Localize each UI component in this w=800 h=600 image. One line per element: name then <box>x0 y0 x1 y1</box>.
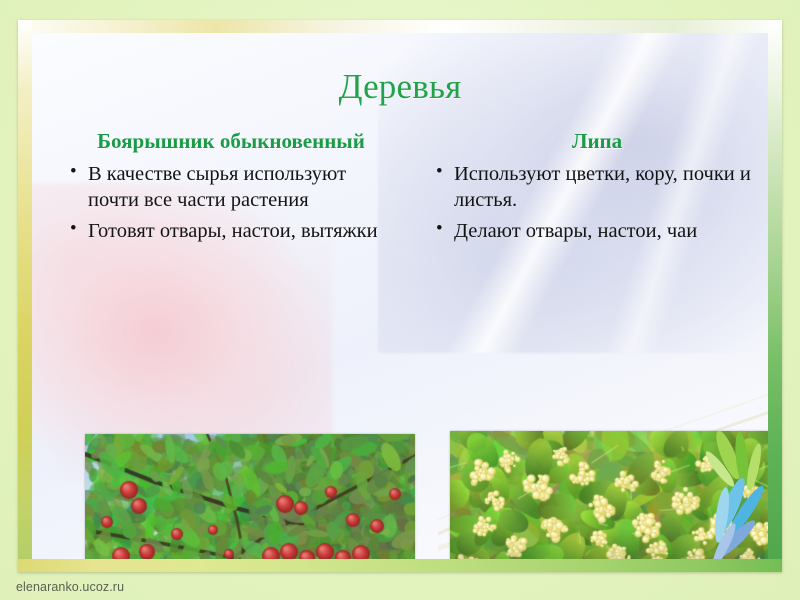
list-item: Готовят отвары, настои, вытяжки <box>66 218 396 245</box>
presentation-page: Деревья Боярышник обыкновенный В качеств… <box>0 0 800 600</box>
list-item: Делают отвары, настои, чаи <box>432 218 762 245</box>
heading-linden: Липа <box>432 129 762 155</box>
photo-linden-blossom: Priroda36.ru <box>450 431 768 559</box>
page-title: Деревья <box>32 67 768 107</box>
column-linden: Липа Используют цветки, кору, почки и ли… <box>432 129 762 249</box>
frame-band-top-icon <box>18 20 782 33</box>
list-item: Используют цветки, кору, почки и листья. <box>432 161 762 214</box>
photo-hawthorn-berries: Priroda36.ru <box>85 434 415 559</box>
column-hawthorn: Боярышник обыкновенный В качестве сырья … <box>66 129 396 249</box>
slide-decorative-frame: Деревья Боярышник обыкновенный В качеств… <box>18 20 782 572</box>
frame-band-left-icon <box>18 20 32 572</box>
list-item: В качестве сырья используют почти все ча… <box>66 161 396 214</box>
slide-canvas: Деревья Боярышник обыкновенный В качеств… <box>32 33 768 559</box>
bullet-list-linden: Используют цветки, кору, почки и листья.… <box>432 161 762 245</box>
frame-band-right-icon <box>768 20 782 572</box>
photo-hawthorn-canvas <box>85 434 415 559</box>
heading-hawthorn: Боярышник обыкновенный <box>66 129 396 155</box>
frame-band-bottom-icon <box>18 559 782 572</box>
photo-linden-canvas <box>450 431 768 559</box>
bullet-list-hawthorn: В качестве сырья используют почти все ча… <box>66 161 396 245</box>
source-footer: elenaranko.ucoz.ru <box>16 580 124 594</box>
